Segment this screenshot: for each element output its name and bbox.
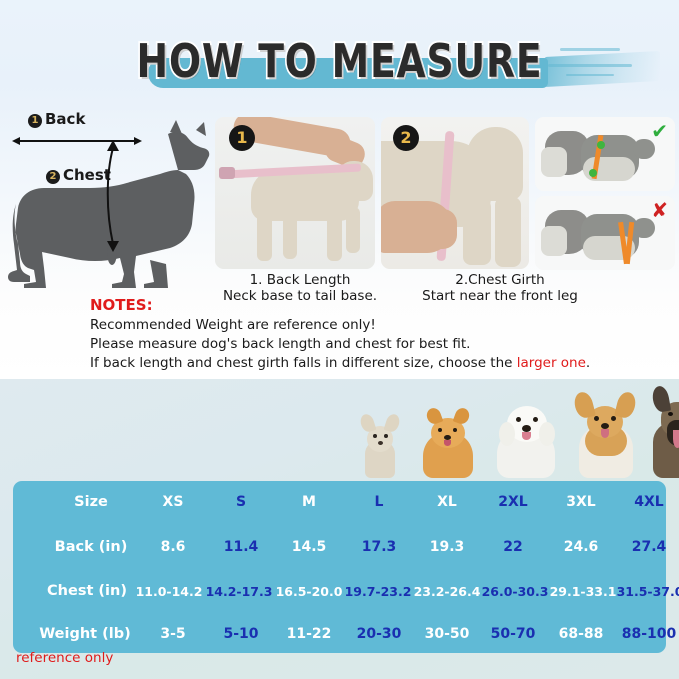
- weight-4xl: 88-100: [601, 613, 679, 656]
- notes-block: NOTES: Recommended Weight are reference …: [90, 296, 650, 373]
- notes-line-1: Recommended Weight are reference only!: [90, 316, 650, 335]
- size-table: Size XS S M L XL 2XL 3XL 4XL Back (in) 8…: [13, 481, 666, 653]
- notes-line-2: Please measure dog's back length and che…: [90, 335, 650, 354]
- table-row-chest: Chest (in) 11.0-14.2 14.2-17.3 16.5-20.0…: [13, 570, 666, 613]
- incorrect-cross-icon: ✘: [651, 198, 668, 222]
- table-header-row: Size XS S M L XL 2XL 3XL 4XL: [13, 481, 666, 524]
- notes-line-3: If back length and chest girth falls in …: [90, 354, 650, 373]
- measure-diagram: 1Back 2Chest: [0, 112, 215, 292]
- chest-arrow-icon: [100, 140, 126, 252]
- back-caption-line1: 1. Back Length: [205, 272, 395, 288]
- notes-line-3-emphasis: larger one: [517, 355, 586, 371]
- notes-title: NOTES:: [90, 296, 650, 314]
- notes-line-3-pre: If back length and chest girth falls in …: [90, 355, 517, 371]
- chest-caption-line1: 2.Chest Girth: [400, 272, 600, 288]
- dog-photo-corgi: [569, 392, 641, 478]
- back-length-photo: 1: [215, 117, 375, 269]
- incorrect-position-photo: ✘: [535, 196, 675, 270]
- page-title: HOW TO MEASURE: [61, 34, 618, 88]
- notes-line-3-post: .: [586, 355, 590, 371]
- photo-badge-one: 1: [229, 125, 255, 151]
- reference-only-footnote: reference only: [16, 650, 113, 666]
- correct-position-photo: ✔: [535, 117, 675, 191]
- col-header-4xl: 4XL: [601, 481, 679, 524]
- size-chart-page: HOW TO MEASURE 1Back 2Chest: [0, 0, 679, 679]
- back-measure-label: 1Back: [28, 110, 85, 128]
- dog-photo-bichon: [491, 398, 561, 478]
- back-4xl: 27.4: [601, 526, 679, 569]
- chest-4xl: 31.5-37.0: [602, 570, 679, 613]
- title-banner: HOW TO MEASURE: [0, 34, 679, 96]
- back-label-text: Back: [45, 110, 85, 128]
- top-section: HOW TO MEASURE 1Back 2Chest: [0, 0, 679, 379]
- photo-badge-two: 2: [393, 125, 419, 151]
- dog-photo-chihuahua: [353, 412, 407, 478]
- badge-two: 2: [46, 170, 60, 184]
- correct-check-icon: ✔: [651, 119, 668, 143]
- table-row-back: Back (in) 8.6 11.4 14.5 17.3 19.3 22 24.…: [13, 526, 666, 569]
- dog-lineup: [345, 386, 679, 478]
- dog-photo-pomeranian: [417, 406, 479, 478]
- badge-one: 1: [28, 114, 42, 128]
- chest-girth-photo: 2: [381, 117, 529, 269]
- dog-photo-german-shepherd: [645, 386, 679, 478]
